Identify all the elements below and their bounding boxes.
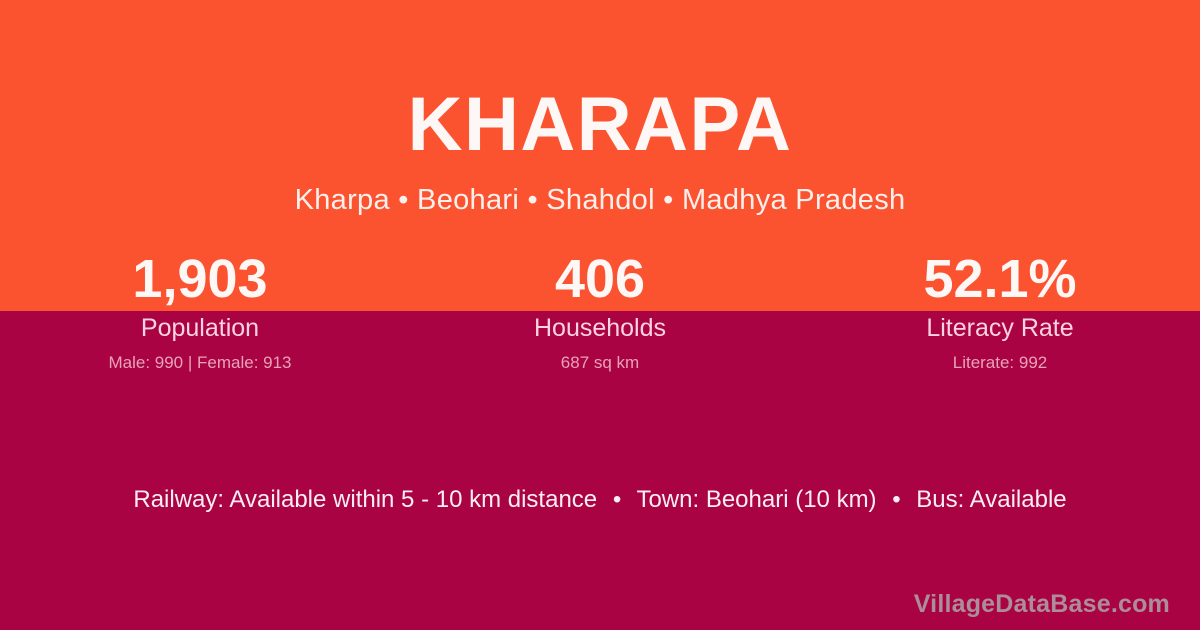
stat-households-detail: 687 sq km <box>400 352 800 374</box>
stat-literacy-detail: Literate: 992 <box>800 352 1200 374</box>
info-town: Town: Beohari (10 km) <box>636 486 876 513</box>
stat-population-label: Population <box>0 312 400 344</box>
stat-literacy: 52.1% Literacy Rate Literate: 992 <box>800 248 1200 374</box>
amenities-line: Railway: Available within 5 - 10 km dist… <box>0 484 1200 516</box>
stat-households-label: Households <box>400 312 800 344</box>
stat-population-detail: Male: 990 | Female: 913 <box>0 352 400 374</box>
info-railway: Railway: Available within 5 - 10 km dist… <box>133 486 597 513</box>
stat-literacy-value: 52.1% <box>800 248 1200 310</box>
bullet-separator-icon: • <box>604 484 630 516</box>
breadcrumb: Kharpa • Beohari • Shahdol • Madhya Prad… <box>0 181 1200 219</box>
stat-literacy-label: Literacy Rate <box>800 312 1200 344</box>
stats-row: 1,903 Population Male: 990 | Female: 913… <box>0 248 1200 374</box>
stat-households: 406 Households 687 sq km <box>400 248 800 374</box>
bullet-separator-icon: • <box>883 484 909 516</box>
stat-population: 1,903 Population Male: 990 | Female: 913 <box>0 248 400 374</box>
site-brand-watermark: VillageDataBase.com <box>914 588 1170 620</box>
page-title: KHARAPA <box>0 82 1200 168</box>
stat-population-value: 1,903 <box>0 248 400 310</box>
stat-households-value: 406 <box>400 248 800 310</box>
info-bus: Bus: Available <box>916 486 1066 513</box>
village-info-card: KHARAPA Kharpa • Beohari • Shahdol • Mad… <box>0 0 1200 630</box>
